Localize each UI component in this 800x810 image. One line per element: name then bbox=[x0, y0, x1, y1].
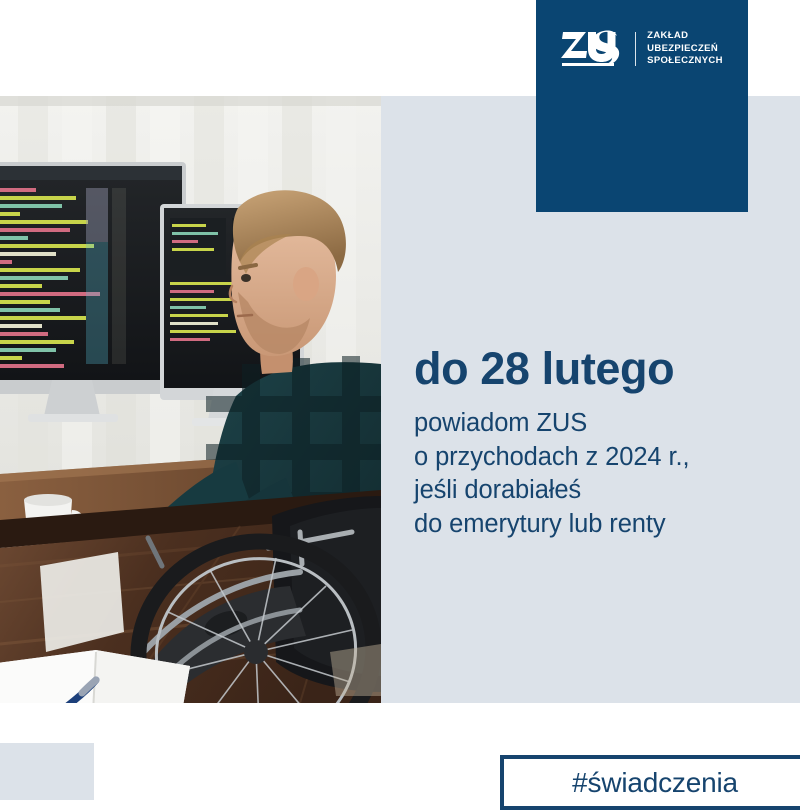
body-line-2: o przychodach z 2024 r., bbox=[414, 441, 689, 475]
body-line-3: jeśli dorabiałeś bbox=[414, 474, 689, 508]
hashtag-label: #świadczenia bbox=[566, 768, 738, 798]
zus-logo-block: ZAKŁAD UBEZPIECZEŃ SPOŁECZNYCH bbox=[536, 0, 748, 212]
hero-photo bbox=[0, 96, 381, 703]
poster-canvas: ZAKŁAD UBEZPIECZEŃ SPOŁECZNYCH do 28 lut… bbox=[0, 0, 800, 800]
hashtag-box: #świadczenia bbox=[500, 755, 800, 810]
logo-word-line-3: SPOŁECZNYCH bbox=[647, 55, 723, 66]
hero-photo-illustration bbox=[0, 96, 381, 703]
body-line-4: do emerytury lub renty bbox=[414, 508, 689, 542]
zus-logo-wordmark: ZAKŁAD UBEZPIECZEŃ SPOŁECZNYCH bbox=[647, 30, 723, 67]
headline-deadline: do 28 lutego bbox=[414, 343, 674, 395]
bottom-left-accent-swatch bbox=[0, 743, 94, 800]
body-line-1: powiadom ZUS bbox=[414, 407, 689, 441]
logo-divider bbox=[635, 32, 636, 66]
logo-word-line-1: ZAKŁAD bbox=[647, 30, 688, 41]
zus-logo-lockup: ZAKŁAD UBEZPIECZEŃ SPOŁECZNYCH bbox=[536, 26, 748, 72]
zus-logo-mark-icon bbox=[561, 29, 623, 69]
logo-word-line-2: UBEZPIECZEŃ bbox=[647, 43, 718, 54]
body-copy: powiadom ZUS o przychodach z 2024 r., je… bbox=[414, 407, 689, 541]
